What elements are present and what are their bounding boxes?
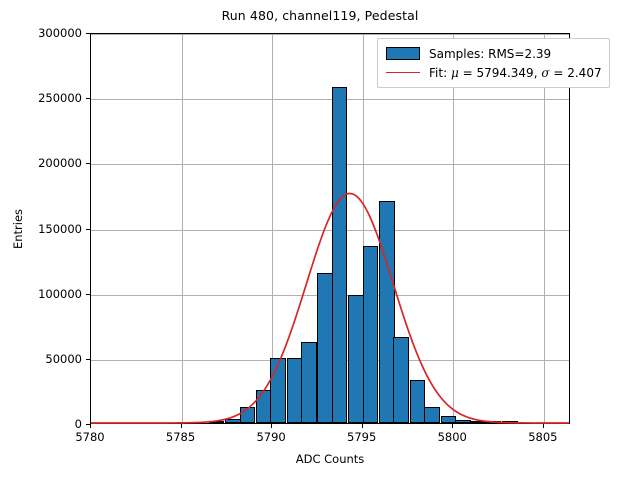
page-title: Run 480, channel119, Pedestal [0, 8, 640, 23]
y-tick-mark [86, 359, 90, 360]
y-tick-mark [86, 98, 90, 99]
x-tick-mark [452, 424, 453, 428]
y-tick-label: 150000 [0, 222, 82, 236]
y-tick-mark [86, 424, 90, 425]
y-tick-label: 200000 [0, 156, 82, 170]
legend-label-samples: Samples: RMS=2.39 [429, 47, 551, 61]
x-tick-label: 5800 [438, 430, 467, 444]
legend-item-fit: Fit: μ = 5794.349, σ = 2.407 [384, 63, 602, 82]
legend-sigma-symbol: σ [541, 66, 549, 80]
x-tick-mark [362, 424, 363, 428]
plot-area [90, 33, 570, 424]
legend-label-fit: Fit: μ = 5794.349, σ = 2.407 [429, 66, 602, 80]
y-tick-label: 0 [0, 417, 82, 431]
legend-eq-1: = [459, 66, 477, 80]
x-tick-label: 5795 [347, 430, 376, 444]
x-tick-label: 5785 [166, 430, 195, 444]
legend-patch-icon [384, 47, 422, 61]
legend-eq-2: = [550, 66, 568, 80]
x-tick-label: 5790 [256, 430, 285, 444]
y-tick-mark [86, 294, 90, 295]
x-tick-label: 5780 [75, 430, 104, 444]
x-tick-mark [271, 424, 272, 428]
y-tick-label: 100000 [0, 287, 82, 301]
legend: Samples: RMS=2.39 Fit: μ = 5794.349, σ =… [377, 38, 610, 88]
x-tick-mark [181, 424, 182, 428]
y-axis-label-wrapper: Entries [22, 0, 23, 480]
gaussian-fit-curve [91, 34, 569, 423]
legend-line-icon [384, 66, 422, 80]
legend-mu-symbol: μ [451, 66, 459, 80]
x-tick-label: 5805 [528, 430, 557, 444]
x-tick-mark [90, 424, 91, 428]
x-tick-mark [543, 424, 544, 428]
y-tick-mark [86, 163, 90, 164]
y-tick-label: 250000 [0, 91, 82, 105]
y-tick-label: 300000 [0, 26, 82, 40]
legend-item-samples: Samples: RMS=2.39 [384, 44, 602, 63]
legend-fit-prefix: Fit: [429, 66, 451, 80]
y-tick-mark [86, 33, 90, 34]
matplotlib-figure: Run 480, channel119, Pedestal Entries 57… [0, 0, 640, 480]
legend-sigma-value: 2.407 [567, 66, 601, 80]
x-axis-label: ADC Counts [90, 452, 570, 466]
legend-mu-value: 5794.349 [476, 66, 533, 80]
y-tick-mark [86, 229, 90, 230]
y-tick-label: 50000 [0, 352, 82, 366]
